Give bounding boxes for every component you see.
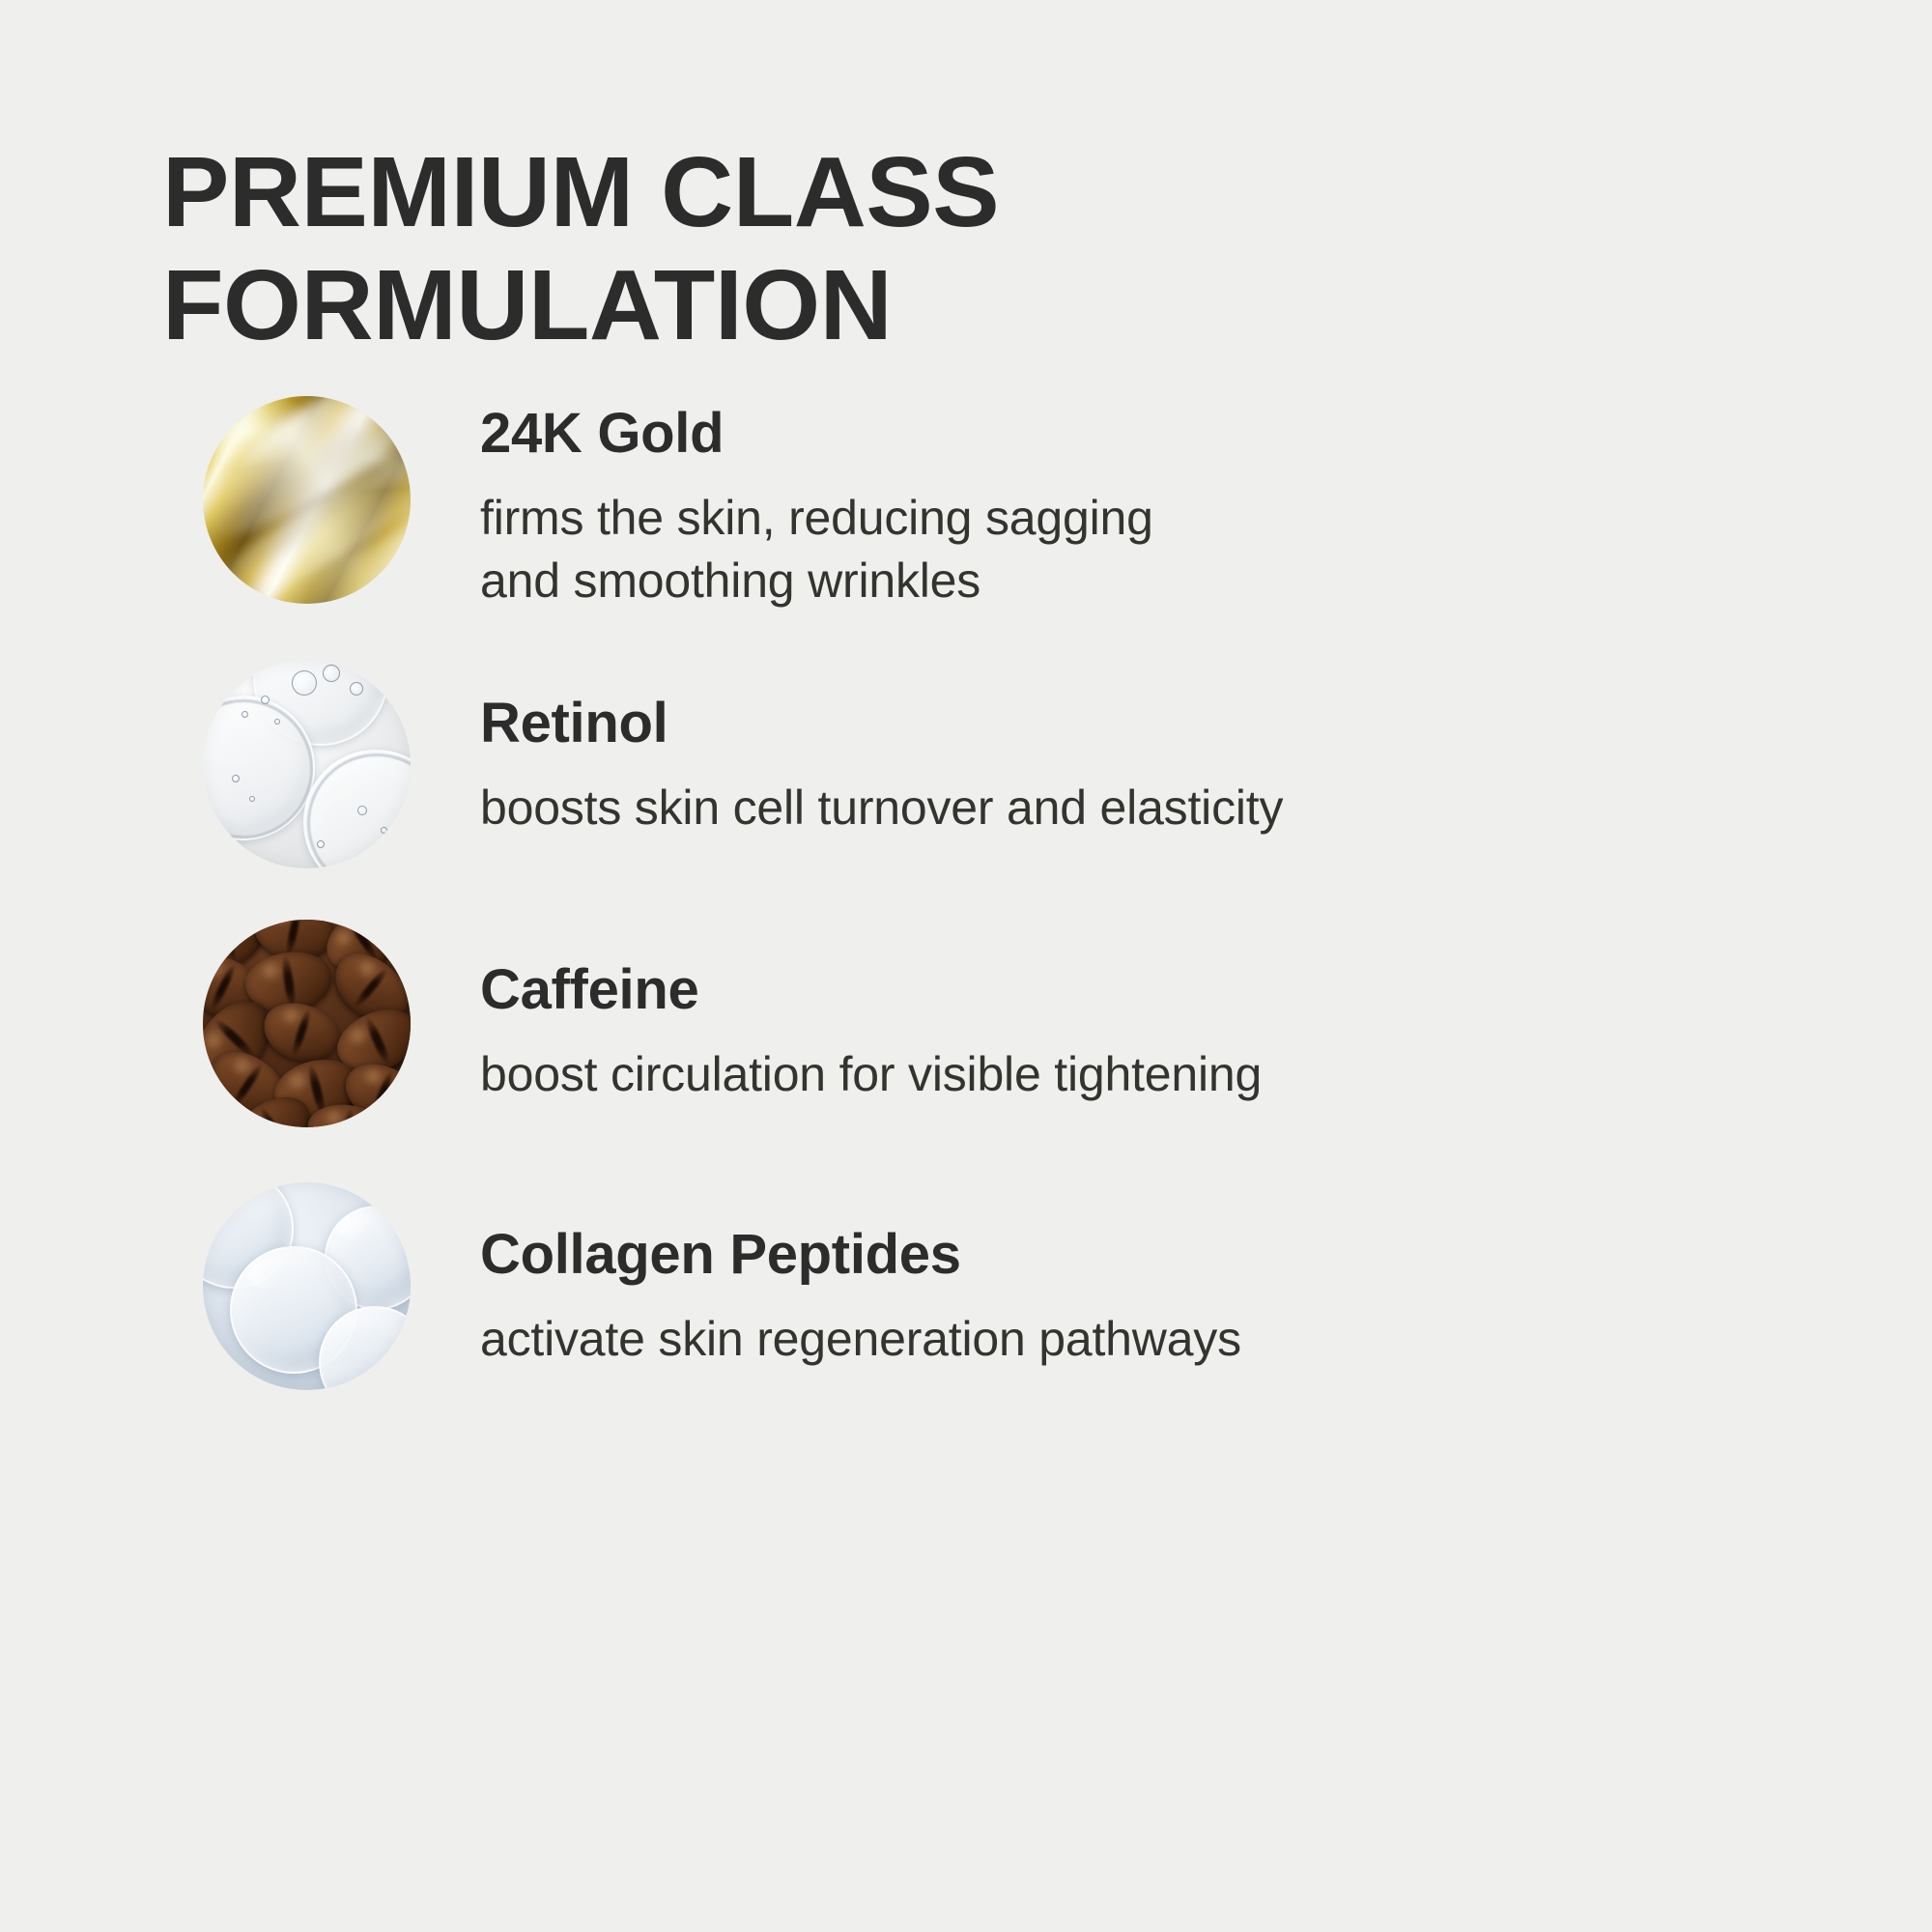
list-item: Caffeine boost circulation for visible t… [0,916,1932,1177]
page-title: PREMIUM CLASS FORMULATION [162,135,1418,362]
ingredient-description: boost circulation for visible tightening [480,1043,1784,1106]
ingredient-name: 24K Gold [480,406,1784,462]
ingredient-text-block: 24K Gold firms the skin, reducing saggin… [480,406,1784,612]
ingredient-thumbnail-retinol [203,661,411,868]
ingredient-thumbnail-caffeine [203,920,411,1127]
ingredient-list: 24K Gold firms the skin, reducing saggin… [0,394,1932,1437]
list-item: 24K Gold firms the skin, reducing saggin… [0,394,1932,655]
list-item: Retinol boosts skin cell turnover and el… [0,655,1932,916]
ingredient-name: Collagen Peptides [480,1227,1784,1283]
ingredient-description: firms the skin, reducing sagging and smo… [480,487,1784,612]
page-title-line-2: FORMULATION [162,248,1431,361]
ingredient-text-block: Retinol boosts skin cell turnover and el… [480,696,1784,839]
ingredient-text-block: Caffeine boost circulation for visible t… [480,962,1784,1106]
ingredient-name: Retinol [480,696,1784,752]
ingredient-description: boosts skin cell turnover and elasticity [480,777,1784,839]
ingredient-name: Caffeine [480,962,1784,1018]
list-item: Collagen Peptides activate skin regenera… [0,1177,1932,1437]
page-title-line-1: PREMIUM CLASS [162,135,1431,248]
ingredient-description: activate skin regeneration pathways [480,1308,1784,1371]
ingredient-thumbnail-gold [203,396,411,604]
ingredient-text-block: Collagen Peptides activate skin regenera… [480,1227,1784,1371]
ingredient-thumbnail-collagen [203,1182,411,1390]
premium-class-formulation-poster: PREMIUM CLASS FORMULATION 24K Gold firms… [0,0,1932,1932]
